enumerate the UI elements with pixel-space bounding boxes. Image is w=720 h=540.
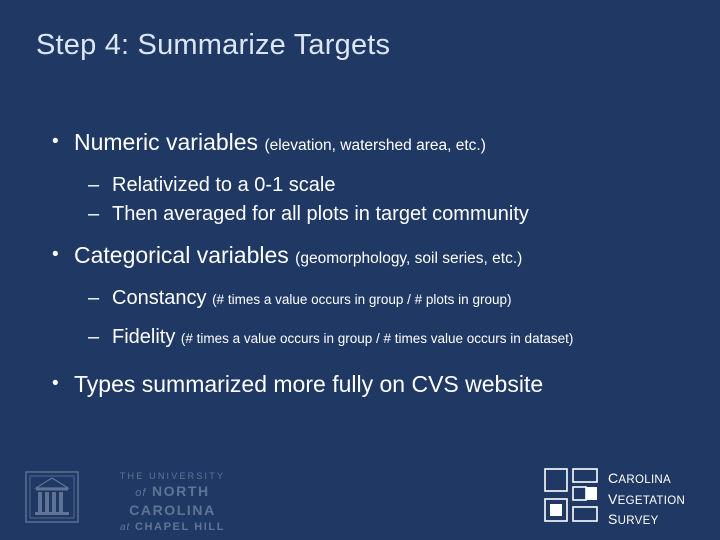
- bullet-types-summarized: • Types summarized more fully on CVS web…: [30, 370, 695, 399]
- unc-line-2-pre: of: [135, 487, 146, 499]
- dash-marker-icon: –: [88, 172, 99, 198]
- bullet-marker-icon: •: [52, 370, 59, 398]
- bullet-note: (elevation, watershed area, etc.): [264, 137, 485, 154]
- subbullet-constancy: – Constancy (# times a value occurs in g…: [30, 285, 695, 311]
- cvs-line-2-cap: V: [608, 491, 618, 507]
- bullet-note: (geomorphology, soil series, etc.): [295, 250, 522, 267]
- unc-logo: THE UNIVERSITY of NORTH CAROLINA at CHAP…: [24, 460, 254, 532]
- page-title: Step 4: Summarize Targets: [36, 30, 686, 62]
- slide: Step 4: Summarize Targets • Numeric vari…: [0, 0, 720, 540]
- dash-marker-icon: –: [88, 324, 99, 350]
- dash-marker-icon: –: [88, 201, 99, 227]
- subbullet-text: Relativized to a 0-1 scale: [112, 174, 335, 196]
- dash-marker-icon: –: [88, 285, 99, 311]
- cvs-line-3: URVEY: [618, 515, 659, 527]
- cvs-line-1: AROLINA: [618, 474, 671, 486]
- bullet-categorical-variables: • Categorical variables (geomorphology, …: [30, 241, 695, 270]
- unc-logo-text: THE UNIVERSITY of NORTH CAROLINA at CHAP…: [90, 470, 255, 535]
- subbullet-averaged-plots: – Then averaged for all plots in target …: [30, 201, 695, 227]
- subbullet-text: Then averaged for all plots in target co…: [112, 203, 529, 225]
- bullet-marker-icon: •: [52, 128, 59, 156]
- slide-body: • Numeric variables (elevation, watershe…: [30, 128, 695, 400]
- cvs-line-3-cap: S: [608, 511, 618, 527]
- bullet-numeric-variables: • Numeric variables (elevation, watershe…: [30, 128, 695, 157]
- bullet-text: Types summarized more fully on CVS websi…: [74, 371, 543, 397]
- subbullet-relativized-scale: – Relativized to a 0-1 scale: [30, 172, 695, 198]
- subbullet-text: Constancy: [112, 287, 212, 309]
- subbullet-note: (# times a value occurs in group / # plo…: [212, 292, 511, 307]
- cvs-logo: CAROLINA VEGETATION SURVEY: [542, 458, 702, 534]
- unc-seal-icon: [24, 466, 80, 528]
- cvs-logo-text: CAROLINA VEGETATION SURVEY: [608, 468, 704, 530]
- bullet-text: Numeric variables: [74, 129, 264, 155]
- bullet-text: Categorical variables: [74, 242, 295, 268]
- subbullet-note: (# times a value occurs in group / # tim…: [181, 331, 573, 346]
- unc-line-1: THE UNIVERSITY: [90, 470, 255, 482]
- bullet-marker-icon: •: [52, 241, 59, 269]
- cvs-line-1-cap: C: [608, 470, 618, 486]
- cvs-line-2: EGETATION: [618, 495, 685, 507]
- subbullet-fidelity: – Fidelity (# times a value occurs in gr…: [30, 324, 695, 350]
- cvs-mark-icon: [542, 466, 602, 526]
- unc-line-3-pre: at: [120, 522, 130, 533]
- subbullet-text: Fidelity: [112, 326, 181, 348]
- unc-line-3: CHAPEL HILL: [135, 521, 225, 533]
